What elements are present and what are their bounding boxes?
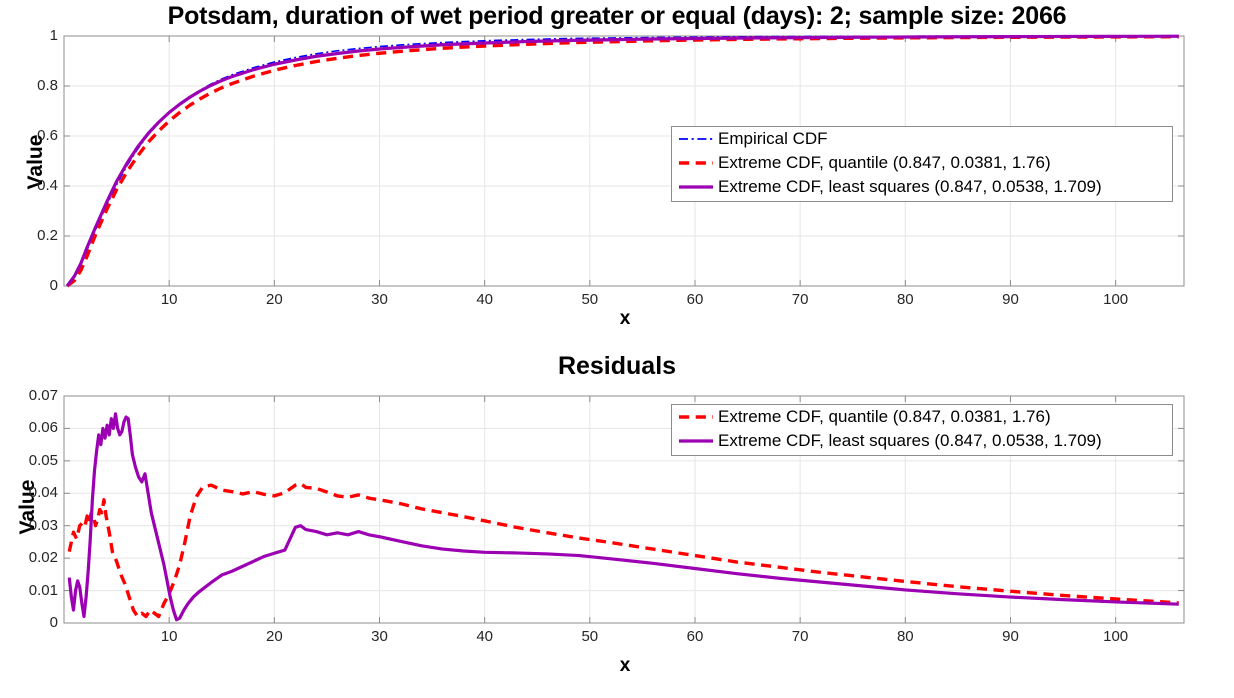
legend-line-swatch-icon xyxy=(678,434,714,448)
legend-item[interactable]: Extreme CDF, quantile (0.847, 0.0381, 1.… xyxy=(672,405,1172,429)
x-tick-label: 40 xyxy=(455,628,515,645)
x-tick-label: 60 xyxy=(665,291,725,308)
page-title: Potsdam, duration of wet period greater … xyxy=(0,2,1234,31)
x-tick-label: 100 xyxy=(1086,628,1146,645)
figure-root: Potsdam, duration of wet period greater … xyxy=(0,0,1234,698)
x-tick-label: 20 xyxy=(244,291,304,308)
legend-item[interactable]: Extreme CDF, least squares (0.847, 0.053… xyxy=(672,429,1172,453)
residuals-title: Residuals xyxy=(0,352,1234,381)
legend-label: Extreme CDF, least squares (0.847, 0.053… xyxy=(718,429,1102,453)
y-tick-label: 0 xyxy=(2,277,58,294)
residuals-x-axis-label: x xyxy=(575,655,675,677)
y-tick-label: 0.8 xyxy=(2,77,58,94)
legend-label: Empirical CDF xyxy=(718,127,828,151)
y-tick-label: 0.04 xyxy=(2,484,58,501)
y-tick-label: 0.06 xyxy=(2,419,58,436)
y-tick-label: 0.4 xyxy=(2,177,58,194)
y-tick-label: 0.01 xyxy=(2,582,58,599)
x-tick-label: 30 xyxy=(349,291,409,308)
x-tick-label: 50 xyxy=(560,628,620,645)
x-tick-label: 90 xyxy=(980,628,1040,645)
y-tick-label: 1 xyxy=(2,27,58,44)
legend-line-swatch-icon xyxy=(678,410,714,424)
y-tick-label: 0.6 xyxy=(2,127,58,144)
cdf-legend[interactable]: Empirical CDFExtreme CDF, quantile (0.84… xyxy=(671,126,1173,202)
legend-line-swatch-icon xyxy=(678,156,714,170)
x-tick-label: 80 xyxy=(875,291,935,308)
x-tick-label: 70 xyxy=(770,628,830,645)
y-tick-label: 0 xyxy=(2,614,58,631)
legend-label: Extreme CDF, quantile (0.847, 0.0381, 1.… xyxy=(718,405,1051,429)
residuals-legend[interactable]: Extreme CDF, quantile (0.847, 0.0381, 1.… xyxy=(671,404,1173,456)
x-tick-label: 10 xyxy=(139,291,199,308)
legend-label: Extreme CDF, quantile (0.847, 0.0381, 1.… xyxy=(718,151,1051,175)
legend-item[interactable]: Extreme CDF, least squares (0.847, 0.053… xyxy=(672,175,1172,199)
x-tick-label: 70 xyxy=(770,291,830,308)
x-tick-label: 60 xyxy=(665,628,725,645)
x-tick-label: 20 xyxy=(244,628,304,645)
x-tick-label: 100 xyxy=(1086,291,1146,308)
y-tick-label: 0.03 xyxy=(2,517,58,534)
y-tick-label: 0.02 xyxy=(2,549,58,566)
x-tick-label: 10 xyxy=(139,628,199,645)
x-tick-label: 80 xyxy=(875,628,935,645)
y-tick-label: 0.07 xyxy=(2,387,58,404)
cdf-x-axis-label: x xyxy=(575,308,675,330)
legend-label: Extreme CDF, least squares (0.847, 0.053… xyxy=(718,175,1102,199)
x-tick-label: 90 xyxy=(980,291,1040,308)
y-tick-label: 0.2 xyxy=(2,227,58,244)
residuals-y-axis-label: Value xyxy=(16,467,40,547)
legend-line-swatch-icon xyxy=(678,180,714,194)
legend-item[interactable]: Empirical CDF xyxy=(672,127,1172,151)
x-tick-label: 50 xyxy=(560,291,620,308)
legend-line-swatch-icon xyxy=(678,132,714,146)
x-tick-label: 30 xyxy=(349,628,409,645)
x-tick-label: 40 xyxy=(455,291,515,308)
legend-item[interactable]: Extreme CDF, quantile (0.847, 0.0381, 1.… xyxy=(672,151,1172,175)
y-tick-label: 0.05 xyxy=(2,452,58,469)
